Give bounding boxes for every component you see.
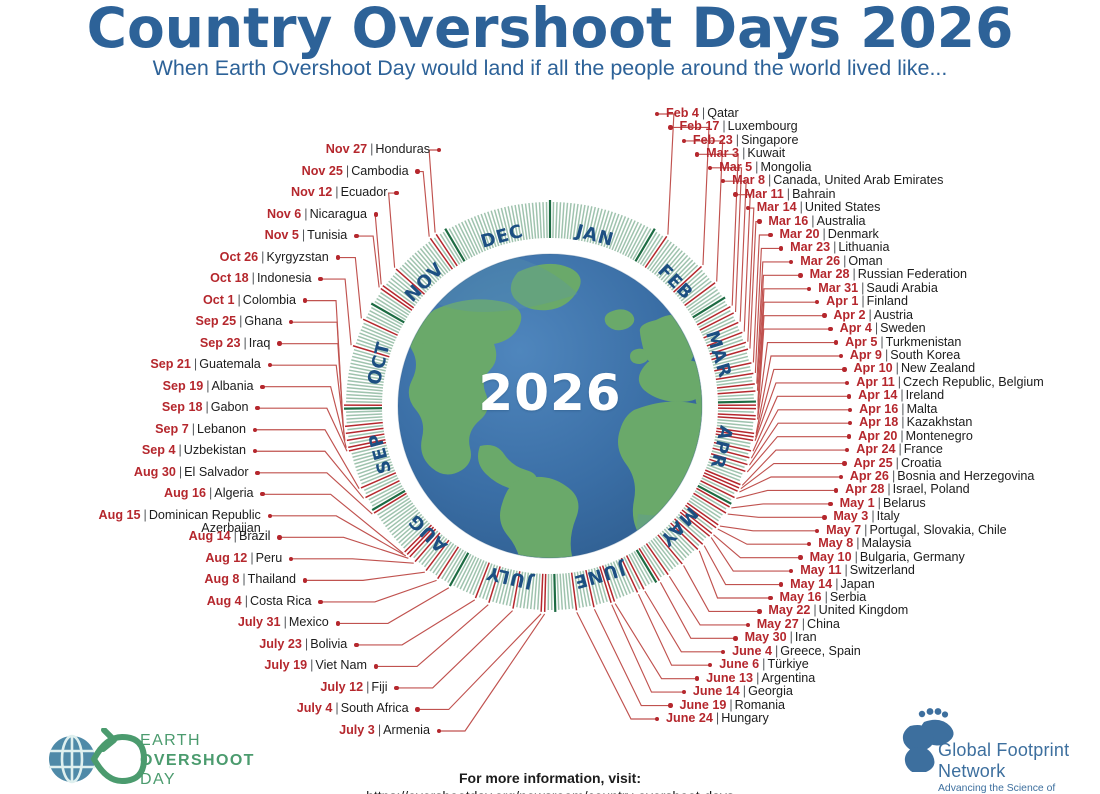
country-overshoot-entry: Sep 21|Guatemala <box>150 358 261 371</box>
day-tick <box>718 411 754 412</box>
entry-date: Sep 25 <box>196 314 237 328</box>
entry-separator: | <box>249 271 257 285</box>
entry-date: Aug 8 <box>204 572 239 586</box>
entry-countries: Colombia <box>243 293 296 307</box>
entry-date: Apr 20 <box>858 429 897 443</box>
day-tick <box>346 417 382 419</box>
entry-dot <box>708 166 712 170</box>
entry-countries: Israel, Poland <box>893 482 970 496</box>
country-overshoot-entry: July 31|Mexico <box>238 616 329 629</box>
entry-separator: | <box>307 658 315 672</box>
country-overshoot-entry: Sep 23|Iraq <box>200 337 271 350</box>
entry-dot <box>842 367 846 371</box>
country-overshoot-entry: July 19|Viet Nam <box>264 659 367 672</box>
month-label-july: JULY <box>484 562 537 594</box>
entry-date: Nov 27 <box>326 142 367 156</box>
leader-line <box>439 614 545 731</box>
entry-countries: Belarus <box>883 496 926 510</box>
country-overshoot-entry: Feb 17|Luxembourg <box>679 120 797 133</box>
entry-countries: Kazakhstan <box>907 415 973 429</box>
entry-date: Feb 23 <box>693 133 733 147</box>
entry-separator: | <box>893 361 901 375</box>
country-overshoot-entry: Apr 5|Turkmenistan <box>845 336 961 349</box>
entry-countries: Denmark <box>828 227 879 241</box>
day-tick <box>554 574 555 612</box>
country-overshoot-entry: May 1|Belarus <box>840 497 926 510</box>
country-overshoot-entry: June 6|Türkiye <box>719 658 808 671</box>
entry-countries: Oman <box>848 254 882 268</box>
entry-separator: | <box>819 227 827 241</box>
country-overshoot-entry: Mar 31|Saudi Arabia <box>818 282 938 295</box>
country-overshoot-entry: July 3|Armenia <box>339 724 430 737</box>
globe-dial: JANFEBMARAPRMAYJUNEJULYAUGSEPOCTNOVDEC 2… <box>338 194 762 618</box>
entry-countries: South Korea <box>890 348 960 362</box>
entry-separator: | <box>299 228 307 242</box>
entry-separator: | <box>258 250 266 264</box>
day-tick <box>347 391 383 394</box>
day-tick <box>718 417 756 419</box>
entry-date: July 12 <box>320 680 363 694</box>
entry-separator: | <box>882 348 890 362</box>
entry-countries: China <box>807 617 840 631</box>
entry-dot <box>839 354 843 358</box>
entry-dot <box>721 179 725 183</box>
entry-date: Mar 11 <box>745 187 784 201</box>
entry-dot <box>268 363 272 367</box>
entry-dot <box>318 277 322 281</box>
entry-dot <box>336 255 340 259</box>
entry-date: Apr 16 <box>859 402 898 416</box>
country-overshoot-entry: May 14|Japan <box>790 578 875 591</box>
entry-dot <box>839 475 843 479</box>
entry-countries: Romania <box>735 698 785 712</box>
leader-line <box>756 369 845 437</box>
entry-separator: | <box>699 106 707 120</box>
entry-separator: | <box>810 603 818 617</box>
country-overshoot-entry: Aug 14|Brazil <box>189 530 271 543</box>
day-tick <box>532 203 535 239</box>
entry-date: July 19 <box>264 658 307 672</box>
entry-countries: Georgia <box>748 684 793 698</box>
entry-countries: Ireland <box>906 388 945 402</box>
country-overshoot-entry: Mar 3|Kuwait <box>706 147 785 160</box>
entry-dot <box>289 557 293 561</box>
day-tick <box>346 395 382 397</box>
country-overshoot-entry: Apr 18|Kazakhstan <box>859 416 972 429</box>
day-tick <box>718 402 756 403</box>
entry-separator: | <box>797 200 805 214</box>
entry-dot <box>437 729 441 733</box>
entry-date: Apr 9 <box>850 348 882 362</box>
entry-separator: | <box>363 680 371 694</box>
country-overshoot-entry: Apr 16|Malta <box>859 403 937 416</box>
country-overshoot-entry: Apr 24|France <box>856 443 943 456</box>
entry-date: Mar 23 <box>790 240 830 254</box>
entry-dot <box>437 148 441 152</box>
entry-separator: | <box>235 293 243 307</box>
entry-countries: Turkmenistan <box>886 335 962 349</box>
country-overshoot-entry: Mar 23|Lithuania <box>790 241 889 254</box>
entry-separator: | <box>868 509 876 523</box>
entry-dot <box>303 578 307 582</box>
entry-countries: Armenia <box>383 723 430 737</box>
entry-date: Apr 11 <box>856 375 895 389</box>
entry-date: May 3 <box>833 509 868 523</box>
entry-date: Mar 20 <box>780 227 820 241</box>
entry-dot <box>415 707 419 711</box>
entry-date: Apr 5 <box>845 335 877 349</box>
entry-separator: | <box>898 415 906 429</box>
entry-separator: | <box>898 402 906 416</box>
day-tick <box>346 398 382 399</box>
entry-separator: | <box>726 698 734 712</box>
entry-date: Aug 14 <box>189 529 231 543</box>
country-overshoot-entry: May 11|Switzerland <box>800 564 915 577</box>
entry-date: May 22 <box>768 603 810 617</box>
leader-line <box>594 609 670 705</box>
page-title: Country Overshoot Days 2026 <box>0 0 1100 60</box>
entry-countries: Brazil <box>239 529 271 543</box>
country-overshoot-entry: Apr 14|Ireland <box>858 389 944 402</box>
country-overshoot-entry: Mar 5|Mongolia <box>719 161 811 174</box>
entry-separator: | <box>281 615 289 629</box>
entry-date: Nov 12 <box>291 185 332 199</box>
day-tick <box>559 202 561 238</box>
entry-dot <box>746 623 750 627</box>
country-overshoot-entry: Aug 16|Algeria <box>164 487 253 500</box>
entry-countries: Italy <box>877 509 900 523</box>
country-overshoot-entry: June 14|Georgia <box>693 685 793 698</box>
entry-date: Mar 8 <box>732 173 765 187</box>
country-overshoot-entry: May 16|Serbia <box>780 591 867 604</box>
month-label-jan: JAN <box>572 220 617 251</box>
country-overshoot-entry: May 8|Malaysia <box>818 537 911 550</box>
day-tick <box>538 574 540 610</box>
entry-dot <box>394 191 398 195</box>
entry-dot <box>757 219 761 223</box>
entry-separator: | <box>849 267 857 281</box>
entry-countries: Finland <box>867 294 908 308</box>
entry-dot <box>682 690 686 694</box>
entry-countries: Lebanon <box>197 422 246 436</box>
day-tick <box>553 202 554 238</box>
country-overshoot-entry: Apr 20|Montenegro <box>858 430 973 443</box>
entry-dot <box>822 313 826 317</box>
globe-svg: JANFEBMARAPRMAYJUNEJULYAUGSEPOCTNOVDEC <box>338 194 762 618</box>
entry-separator: | <box>866 308 874 322</box>
entry-dot <box>668 703 672 707</box>
entry-dot <box>695 676 699 680</box>
entry-date: May 1 <box>840 496 875 510</box>
entry-dot <box>789 260 793 264</box>
entry-date: Mar 3 <box>706 146 739 160</box>
entry-date: Aug 30 <box>134 465 176 479</box>
entry-countries: Malaysia <box>862 536 912 550</box>
entry-countries: Canada, United Arab Emirates <box>773 173 943 187</box>
entry-countries: Ecuador <box>341 185 388 199</box>
entry-date: June 19 <box>679 698 726 712</box>
entry-countries: Bulgaria, Germany <box>860 550 965 564</box>
entry-date: Feb 4 <box>666 106 699 120</box>
day-tick <box>564 203 567 239</box>
entry-dot <box>655 717 659 721</box>
more-info-url[interactable]: https://overshootday.org/newsroom/countr… <box>0 788 1100 794</box>
country-overshoot-entry: Oct 18|Indonesia <box>210 272 311 285</box>
entry-dot <box>253 449 257 453</box>
entry-separator: | <box>740 684 748 698</box>
entry-separator: | <box>719 119 727 133</box>
country-overshoot-entry: Aug 12|Peru <box>205 552 282 565</box>
leader-line <box>577 612 657 719</box>
country-overshoot-entry: May 22|United Kingdom <box>768 604 908 617</box>
entry-date: May 8 <box>818 536 853 550</box>
leader-line <box>305 301 342 405</box>
entry-separator: | <box>787 630 795 644</box>
entry-dot <box>354 643 358 647</box>
entry-dot <box>303 298 307 302</box>
entry-separator: | <box>808 214 816 228</box>
entry-countries: Peru <box>256 551 283 565</box>
country-overshoot-entry: Aug 8|Thailand <box>204 573 296 586</box>
country-overshoot-entry: Sep 7|Lebanon <box>155 423 246 436</box>
entry-date: Mar 26 <box>800 254 840 268</box>
entry-dot <box>260 492 264 496</box>
entry-dot <box>354 234 358 238</box>
entry-dot <box>798 555 802 559</box>
entry-dot <box>847 394 851 398</box>
entry-date: Aug 15 <box>99 508 141 522</box>
entry-separator: | <box>784 187 792 201</box>
country-overshoot-entry: Apr 9|South Korea <box>850 349 961 362</box>
entry-dot <box>277 535 281 539</box>
entry-countries: Malta <box>907 402 938 416</box>
entry-date: June 24 <box>666 711 713 725</box>
entry-separator: | <box>858 294 866 308</box>
entry-separator: | <box>191 357 199 371</box>
entry-date: Apr 14 <box>858 388 897 402</box>
eod-line2: OVERSHOOT <box>140 751 255 771</box>
entry-countries: Serbia <box>830 590 866 604</box>
entry-dot <box>318 600 322 604</box>
entry-countries: Qatar <box>707 106 739 120</box>
entry-dot <box>848 421 852 425</box>
entry-separator: | <box>713 711 721 725</box>
entry-separator: | <box>332 185 340 199</box>
entry-dot <box>779 246 783 250</box>
entry-countries: Bolivia <box>310 637 347 651</box>
leader-line <box>258 408 347 451</box>
entry-countries: Japan <box>840 577 874 591</box>
entry-date: Mar 31 <box>818 281 858 295</box>
leader-line <box>418 614 541 710</box>
entry-date: Mar 28 <box>810 267 850 281</box>
entry-dot <box>798 273 802 277</box>
entry-countries: New Zealand <box>901 361 975 375</box>
country-overshoot-entry: Nov 27|Honduras <box>326 143 430 156</box>
entry-date: Apr 26 <box>850 469 889 483</box>
entry-separator: | <box>897 429 905 443</box>
entry-countries: Thailand <box>248 572 296 586</box>
country-overshoot-entry: June 24|Hungary <box>666 712 769 725</box>
country-overshoot-entry: Feb 23|Singapore <box>693 134 799 147</box>
entry-date: Apr 2 <box>833 308 865 322</box>
day-tick <box>347 420 383 423</box>
entry-date: Apr 10 <box>853 361 892 375</box>
country-overshoot-entry: July 4|South Africa <box>297 702 409 715</box>
entry-countries: Lithuania <box>838 240 889 254</box>
entry-dot <box>289 320 293 324</box>
page-subtitle: When Earth Overshoot Day would land if a… <box>0 56 1100 81</box>
country-overshoot-entry: Mar 20|Denmark <box>780 228 879 241</box>
entry-dot <box>268 514 272 518</box>
leader-line <box>753 396 849 451</box>
leader-line <box>397 611 513 688</box>
day-tick <box>346 411 382 412</box>
entry-countries: Uzbekistan <box>184 443 246 457</box>
entry-dot <box>828 327 832 331</box>
entry-separator: | <box>375 723 383 737</box>
entry-countries: Indonesia <box>257 271 312 285</box>
country-overshoot-entry: June 13|Argentina <box>706 672 815 685</box>
country-overshoot-entry: Apr 26|Bosnia and Herzegovina <box>850 470 1035 483</box>
leader-line <box>749 423 850 465</box>
entry-date: Feb 17 <box>679 119 719 133</box>
country-overshoot-entry: Apr 25|Croatia <box>853 457 941 470</box>
country-overshoot-entry: Sep 18|Gabon <box>162 401 249 414</box>
entry-countries: Honduras <box>375 142 430 156</box>
entry-countries: Guatemala <box>199 357 261 371</box>
entry-countries: Algeria <box>214 486 253 500</box>
entry-date: Sep 19 <box>163 379 204 393</box>
entry-countries: Australia <box>817 214 866 228</box>
entry-date: Oct 26 <box>220 250 259 264</box>
country-overshoot-entry: Nov 5|Tunisia <box>265 229 348 242</box>
leader-line <box>756 356 841 434</box>
entry-countries: Croatia <box>901 456 942 470</box>
country-overshoot-entry: Apr 1|Finland <box>826 295 908 308</box>
entry-separator: | <box>897 388 905 402</box>
entry-countries: South Africa <box>341 701 409 715</box>
country-overshoot-entry: May 27|China <box>757 618 840 631</box>
entry-dot <box>807 287 811 291</box>
entry-date: Sep 21 <box>150 357 191 371</box>
day-tick <box>563 573 566 609</box>
entry-dot <box>260 385 264 389</box>
entry-date: May 11 <box>800 563 841 577</box>
entry-countries: Bosnia and Herzegovina <box>897 469 1034 483</box>
entry-countries: Tunisia <box>307 228 347 242</box>
day-tick <box>543 202 544 238</box>
entry-dot <box>374 664 378 668</box>
country-overshoot-entry: Oct 1|Colombia <box>203 294 296 307</box>
entry-date: May 27 <box>757 617 799 631</box>
entry-dot <box>834 340 838 344</box>
entry-countries: Türkiye <box>767 657 808 671</box>
entry-dot <box>842 461 846 465</box>
day-tick <box>560 574 562 610</box>
entry-separator: | <box>877 335 885 349</box>
leader-line <box>757 275 800 390</box>
entry-dot <box>815 300 819 304</box>
entry-date: May 16 <box>780 590 822 604</box>
entry-date: Sep 23 <box>200 336 241 350</box>
entry-countries: Nicaragua <box>310 207 367 221</box>
leader-line <box>291 322 343 426</box>
country-overshoot-entry: May 30|Iran <box>745 631 817 644</box>
day-tick <box>534 573 537 609</box>
country-overshoot-entry: Mar 11|Bahrain <box>745 188 836 201</box>
entry-date: Mar 5 <box>719 160 752 174</box>
entry-date: Nov 5 <box>265 228 299 242</box>
entry-countries: Fiji <box>371 680 387 694</box>
country-overshoot-entry: Nov 6|Nicaragua <box>267 208 367 221</box>
entry-date: May 7 <box>826 523 861 537</box>
entry-date: Aug 16 <box>164 486 206 500</box>
country-overshoot-entry: Oct 26|Kyrgyzstan <box>220 251 329 264</box>
entry-date: June 6 <box>719 657 759 671</box>
entry-date: Sep 4 <box>142 443 176 457</box>
entry-countries: Saudi Arabia <box>866 281 937 295</box>
country-overshoot-entry: May 10|Bulgaria, Germany <box>810 551 965 564</box>
entry-separator: | <box>895 442 903 456</box>
day-tick <box>718 414 756 416</box>
country-overshoot-entry: Apr 4|Sweden <box>840 322 926 335</box>
country-overshoot-entry: Mar 28|Russian Federation <box>810 268 967 281</box>
entry-dot <box>733 636 737 640</box>
entry-separator: | <box>893 456 901 470</box>
country-overshoot-entry: July 23|Bolivia <box>259 638 347 651</box>
entry-dot <box>733 192 737 196</box>
country-overshoot-entry: Apr 10|New Zealand <box>853 362 975 375</box>
entry-countries: Gabon <box>211 400 249 414</box>
entry-countries: Switzerland <box>850 563 915 577</box>
entry-dot <box>845 381 849 385</box>
country-overshoot-entry: Apr 28|Israel, Poland <box>845 483 970 496</box>
entry-date: July 31 <box>238 615 281 629</box>
entry-date: Mar 14 <box>757 200 797 214</box>
entry-dot <box>415 169 419 173</box>
country-overshoot-entry: May 3|Italy <box>833 510 899 523</box>
more-information: For more information, visit: https://ove… <box>0 770 1100 794</box>
entry-separator: | <box>236 314 244 328</box>
leader-line <box>758 316 824 409</box>
entry-countries: Hungary <box>721 711 769 725</box>
entry-date: Sep 7 <box>155 422 189 436</box>
infographic-page: Country Overshoot Days 2026 When Earth O… <box>0 0 1100 794</box>
entry-dot <box>394 686 398 690</box>
entry-date: Nov 6 <box>267 207 301 221</box>
country-overshoot-entry: July 12|Fiji <box>320 681 387 694</box>
entry-countries: Argentina <box>761 671 815 685</box>
entry-countries: Ghana <box>244 314 282 328</box>
entry-countries: France <box>904 442 943 456</box>
country-overshoot-entry: Nov 25|Cambodia <box>302 165 409 178</box>
entry-dot <box>847 434 851 438</box>
entry-countries: Greece, Spain <box>780 644 861 658</box>
entry-date: June 4 <box>732 644 772 658</box>
entry-countries: El Salvador <box>184 465 248 479</box>
day-tick <box>717 420 753 423</box>
country-overshoot-entry: June 19|Romania <box>679 699 785 712</box>
entry-dot <box>255 406 259 410</box>
entry-dot <box>374 212 378 216</box>
entry-date: Nov 25 <box>302 164 343 178</box>
entry-countries: Dominican Republic <box>149 508 261 522</box>
entry-dot <box>757 609 761 613</box>
leader-line <box>758 289 809 402</box>
leader-line <box>747 437 849 472</box>
day-tick <box>346 402 382 403</box>
